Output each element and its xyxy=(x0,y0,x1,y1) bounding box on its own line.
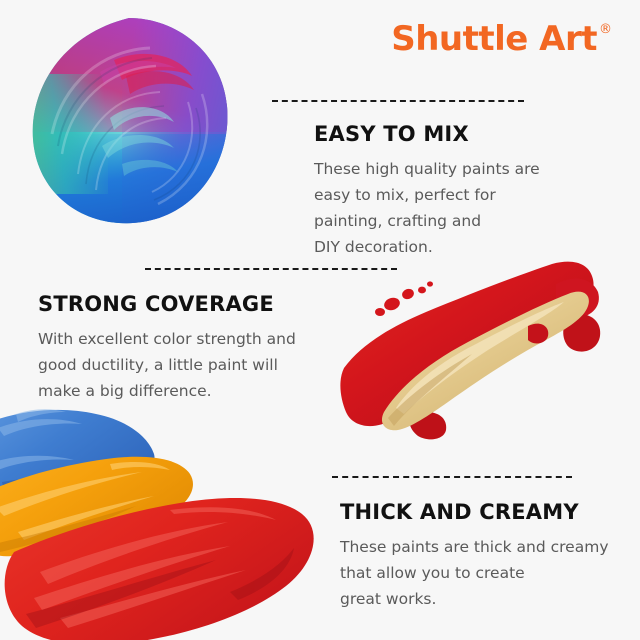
feature-easy-to-mix: EASY TO MIX These high quality paints ar… xyxy=(314,122,540,260)
feature-title: THICK AND CREAMY xyxy=(340,500,609,524)
brand-name: Shuttle Art xyxy=(391,22,597,56)
registered-trademark-icon: ® xyxy=(599,23,612,36)
paint-swirl-image xyxy=(26,14,232,228)
feature-title: EASY TO MIX xyxy=(314,122,540,146)
feature-thick-and-creamy: THICK AND CREAMY These paints are thick … xyxy=(340,500,609,612)
paint-color-bands-image xyxy=(0,402,320,640)
feature-body: With excellent color strength and good d… xyxy=(38,326,296,404)
infographic-canvas: Shuttle Art ® xyxy=(0,0,640,640)
feature-body: These high quality paints are easy to mi… xyxy=(314,156,540,260)
feature-body: These paints are thick and creamy that a… xyxy=(340,534,609,612)
section-divider-thick-and-creamy xyxy=(332,476,572,478)
section-divider-easy-to-mix xyxy=(272,100,524,102)
feature-title: STRONG COVERAGE xyxy=(38,292,296,316)
feature-strong-coverage: STRONG COVERAGE With excellent color str… xyxy=(38,292,296,404)
section-divider-strong-coverage xyxy=(145,268,397,270)
paint-red-cream-smear-image xyxy=(330,250,630,440)
brand-logo: Shuttle Art ® xyxy=(391,22,612,56)
